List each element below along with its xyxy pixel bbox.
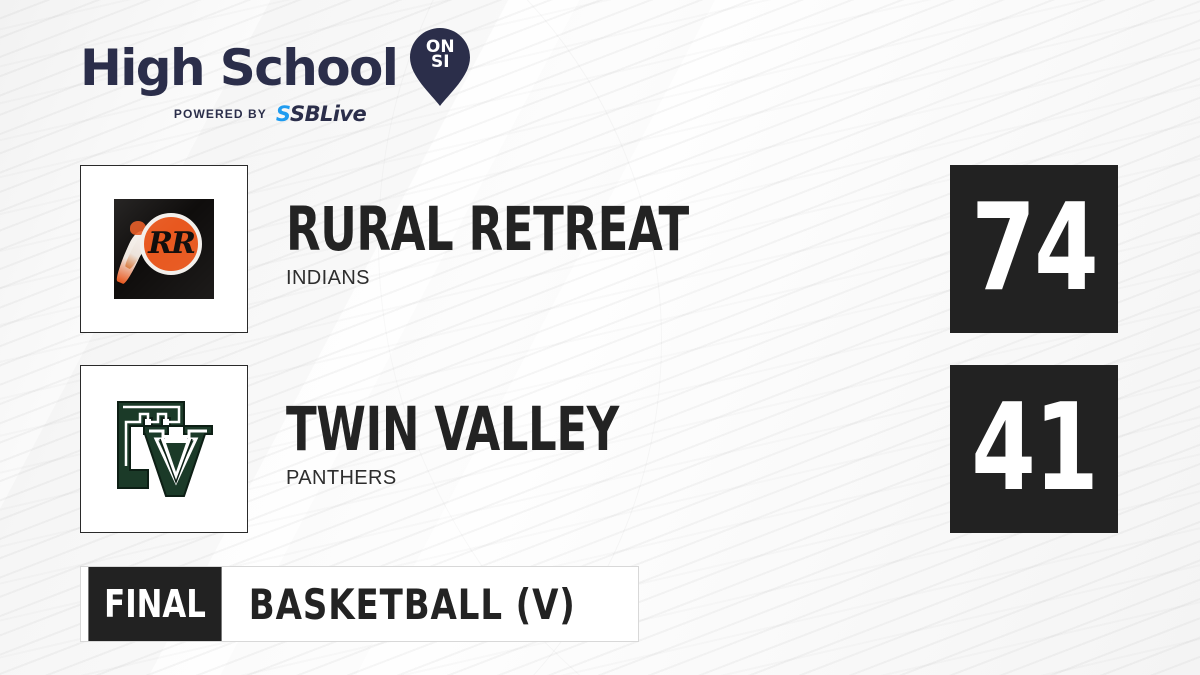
logo-sheen: [114, 199, 214, 299]
game-status-badge: FINAL: [88, 567, 221, 641]
onsi-pin-text: ON SI: [409, 40, 471, 70]
team-score: 41: [971, 389, 1097, 509]
sblive-s-icon: S: [276, 104, 290, 125]
onsi-pin-line2: SI: [409, 55, 471, 70]
brand-wordmark: High School: [80, 43, 397, 93]
team-name: TWIN VALLEY: [286, 399, 860, 461]
team-row: RR RURAL RETREAT INDIANS 74: [80, 165, 1120, 335]
brand-header: High School ON SI POWERED BY S SBLive: [80, 36, 510, 136]
status-bar: FINAL BASKETBALL (V): [80, 566, 639, 642]
powered-by-label: POWERED BY: [174, 107, 267, 121]
rural-retreat-logo: RR: [114, 199, 214, 299]
team-logo-tile: RR: [80, 165, 248, 333]
team-info: TWIN VALLEY PANTHERS: [286, 399, 986, 490]
sport-label: BASKETBALL (V): [229, 567, 597, 641]
team-score-box: 41: [950, 365, 1118, 533]
powered-by-row: POWERED BY S SBLive: [80, 104, 460, 124]
team-score-box: 74: [950, 165, 1118, 333]
onsi-pin-icon: ON SI: [409, 28, 471, 106]
team-mascot: PANTHERS: [286, 467, 986, 490]
team-score: 74: [971, 189, 1097, 309]
team-row: TWIN VALLEY PANTHERS 41: [80, 365, 1120, 535]
sblive-logo: S SBLive: [276, 104, 366, 125]
brand-logo-row: High School ON SI: [80, 36, 510, 100]
team-mascot: INDIANS: [286, 267, 986, 290]
sblive-wordmark: SBLive: [290, 104, 366, 125]
twin-valley-logo: [108, 396, 220, 502]
scoreboard-graphic: High School ON SI POWERED BY S SBLive: [0, 0, 1200, 675]
team-logo-tile: [80, 365, 248, 533]
team-info: RURAL RETREAT INDIANS: [286, 199, 986, 290]
team-name: RURAL RETREAT: [286, 199, 860, 261]
